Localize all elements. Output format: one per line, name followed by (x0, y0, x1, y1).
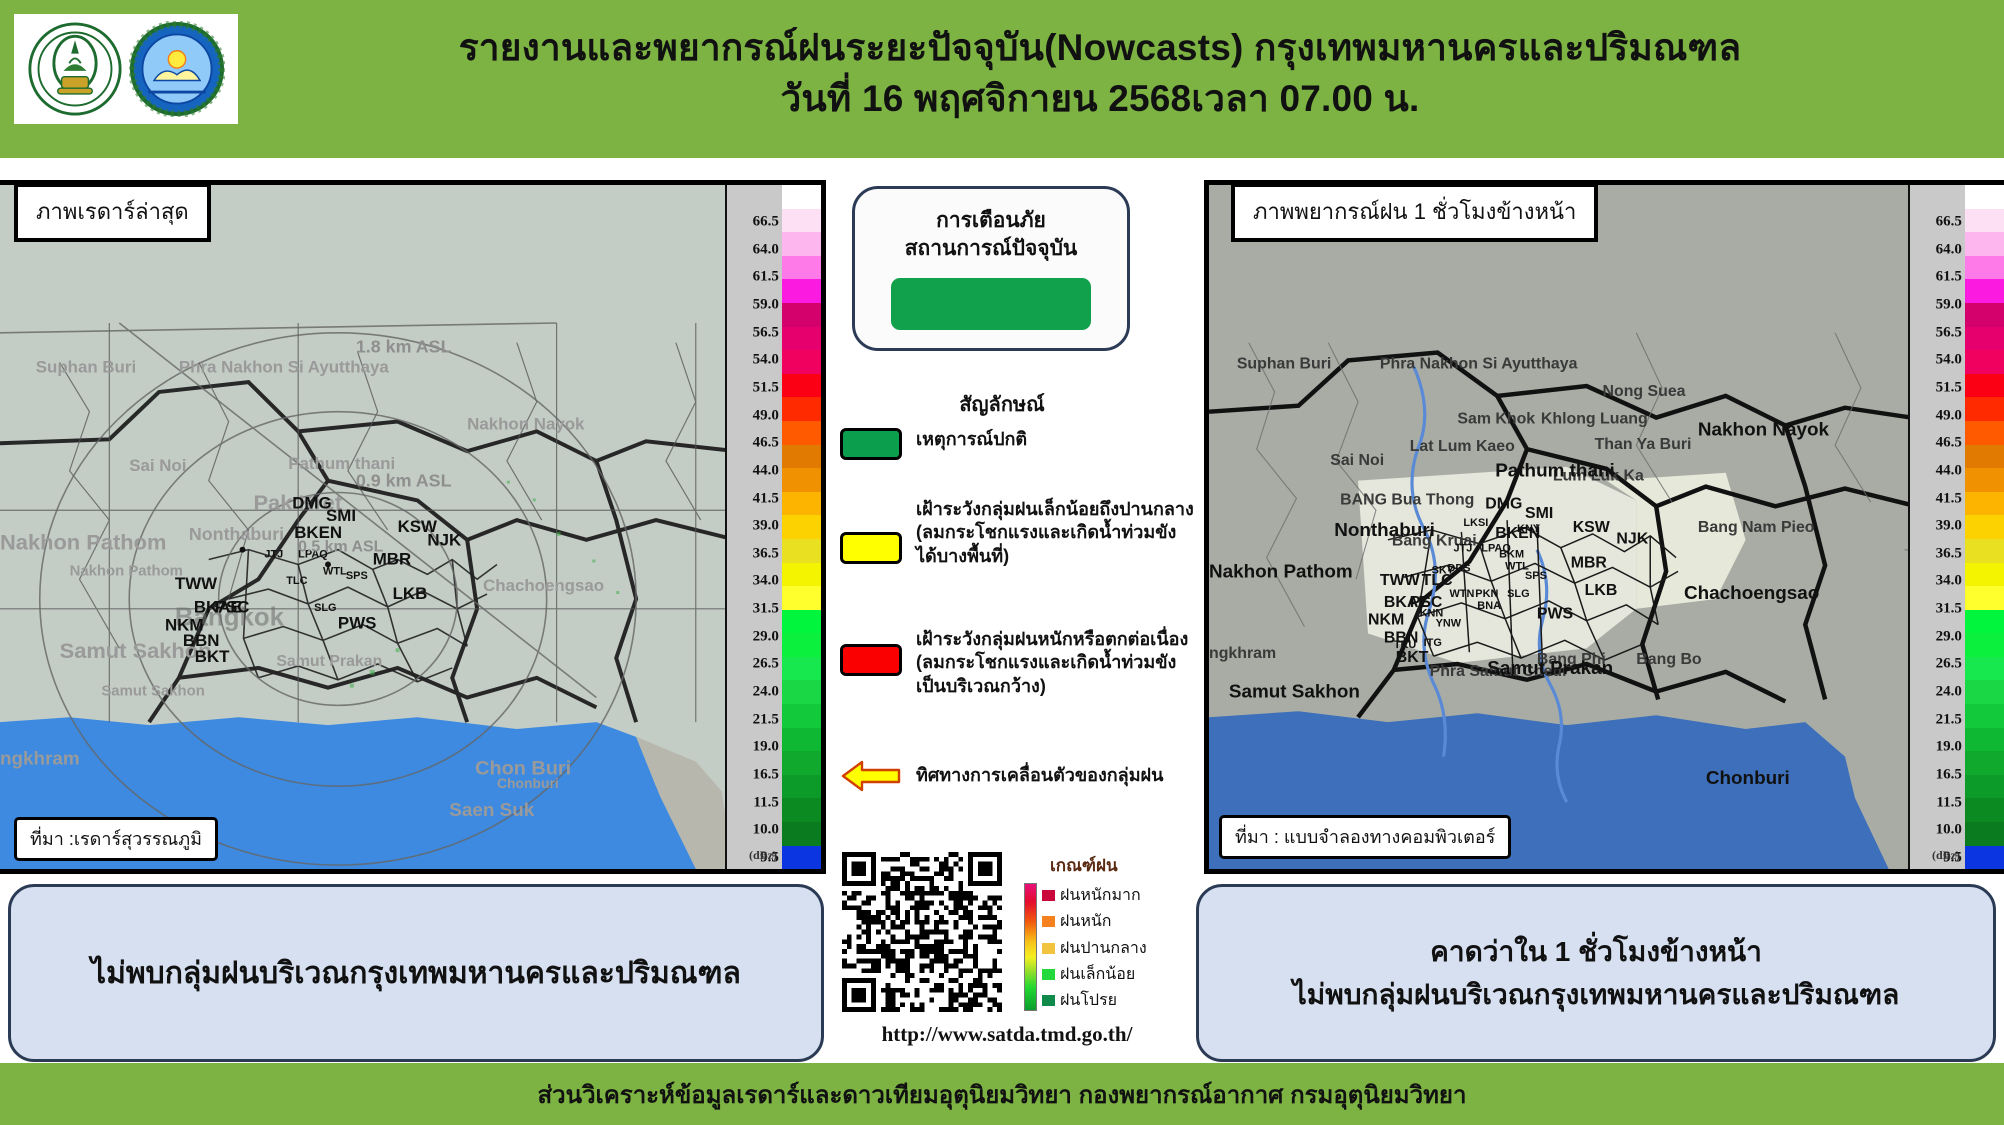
colorbar-band (782, 798, 821, 822)
colorbar-band (1965, 563, 2004, 587)
svg-text:0.5 km ASL: 0.5 km ASL (298, 539, 383, 556)
svg-text:PSC: PSC (215, 598, 250, 617)
svg-text:Saen Suk: Saen Suk (449, 799, 535, 820)
colorbar-tick-label: 21.5 (753, 711, 779, 728)
colorbar-tick-label: 34.0 (1936, 573, 1962, 590)
colorbar-band (782, 539, 821, 563)
symbol-swatch-watch-light (840, 532, 902, 564)
colorbar-band (1965, 680, 2004, 704)
svg-text:BANG Bua Thong: BANG Bua Thong (1340, 491, 1474, 508)
colorbar-band (1965, 515, 2004, 539)
colorbar-band (1965, 303, 2004, 327)
symbol-row-watch-light: เฝ้าระวังกลุ่มฝนเล็กน้อยถึงปานกลาง (ลมกร… (840, 498, 1194, 568)
radar-map-image: Suphan Buri Phra Nakhon Si Ayutthaya Nak… (0, 185, 821, 869)
forecast-map-panel[interactable]: Suphan Buri Phra Nakhon Si Ayutthaya Non… (1204, 180, 2004, 874)
colorbar-band (782, 397, 821, 421)
svg-text:Samut Sakhon: Samut Sakhon (1229, 681, 1360, 702)
colorbar-tick-label: 51.5 (753, 379, 779, 396)
colorbar-tick-label: 44.0 (753, 462, 779, 479)
colorbar-band (782, 728, 821, 752)
alert-status-card: การเตือนภัย สถานการณ์ปัจจุบัน (852, 186, 1130, 351)
colorbar-band (1965, 728, 2004, 752)
colorbar-tick-label: 56.5 (753, 324, 779, 341)
colorbar-tick-label: 49.0 (753, 407, 779, 424)
colorbar-band (782, 751, 821, 775)
rain-item-label: ฝนโปรย (1060, 988, 1117, 1013)
svg-text:Chachoengsao: Chachoengsao (483, 576, 604, 595)
colorbar-tick-label: 59.0 (753, 297, 779, 314)
rain-legend-title: เกณฑ์ฝน (1050, 852, 1189, 879)
colorbar-band (782, 704, 821, 728)
svg-text:Lat Lum Kaeo: Lat Lum Kaeo (1410, 438, 1515, 455)
colorbar-tick-label: 39.0 (753, 518, 779, 535)
svg-text:SPS: SPS (346, 570, 368, 582)
svg-text:Sai Noi: Sai Noi (129, 456, 186, 475)
colorbar-tick-label: 19.0 (753, 739, 779, 756)
page-footer: ส่วนวิเคราะห์ข้อมูลเรดาร์และดาวเทียมอุตุ… (0, 1063, 2004, 1125)
svg-text:MBR: MBR (1571, 554, 1608, 571)
royal-seal-logo (27, 21, 123, 117)
forecast-panel-tab-label: ภาพพยากรณ์ฝน 1 ชั่วโมงข้างหน้า (1231, 183, 1598, 242)
svg-text:Suphan Buri: Suphan Buri (36, 357, 136, 376)
symbol-label-normal: เหตุการณ์ปกติ (916, 428, 1027, 451)
colorbar-band (1965, 279, 2004, 303)
colorbar-band (1965, 633, 2004, 657)
rain-legend-item: ฝนเล็กน้อย (1042, 962, 1147, 987)
colorbar-tick-label: 61.5 (1936, 269, 1962, 286)
rain-legend-item: ฝนปานกลาง (1042, 936, 1147, 961)
svg-text:Nakhon Nayok: Nakhon Nayok (1698, 418, 1830, 439)
alert-status-indicator (891, 278, 1091, 330)
colorbar-band (782, 586, 821, 610)
radar-panel-tab-label: ภาพเรดาร์ล่าสุด (14, 183, 211, 242)
forecast-colorbar-labels: 66.564.061.559.056.554.051.549.046.544.0… (1910, 185, 1965, 869)
symbols-title: สัญลักษณ์ (832, 388, 1172, 420)
svg-text:KSW: KSW (1573, 519, 1610, 536)
svg-text:LKB: LKB (393, 584, 428, 603)
colorbar-tick-label: 10.0 (1936, 822, 1962, 839)
svg-text:Samut Prakan: Samut Prakan (1487, 657, 1613, 678)
svg-text:Sai Noi: Sai Noi (1330, 452, 1384, 469)
svg-text:Nong Suea: Nong Suea (1603, 383, 1686, 400)
colorbar-tick-label: 11.5 (1936, 794, 1961, 811)
colorbar-tick-label: 26.5 (1936, 656, 1962, 673)
colorbar-tick-label: 26.5 (753, 656, 779, 673)
colorbar-band (782, 563, 821, 587)
colorbar-band (1965, 657, 2004, 681)
colorbar-tick-label: 31.5 (753, 601, 779, 618)
colorbar-tick-label: 54.0 (1936, 352, 1962, 369)
forecast-map-image: Suphan Buri Phra Nakhon Si Ayutthaya Non… (1209, 185, 2004, 869)
left-arrow-icon (840, 758, 902, 794)
svg-text:SKY: SKY (1432, 564, 1455, 576)
radar-colorbar: 66.564.061.559.056.554.051.549.046.544.0… (725, 185, 821, 869)
rain-chip (1042, 890, 1055, 901)
svg-text:NJK: NJK (427, 531, 461, 550)
forecast-colorbar-unit: (dBz) (1932, 848, 1960, 863)
rain-chip (1042, 943, 1055, 954)
colorbar-tick-label: 46.5 (1936, 435, 1962, 452)
svg-text:Chonburi: Chonburi (1706, 767, 1790, 788)
colorbar-band (782, 846, 821, 870)
svg-text:Sam Khok: Sam Khok (1457, 411, 1535, 428)
center-legend-column: การเตือนภัย สถานการณ์ปัจจุบัน สัญลักษณ์ … (832, 180, 1202, 1040)
svg-text:Chachoengsao: Chachoengsao (1684, 582, 1819, 603)
svg-text:SMI: SMI (1525, 505, 1553, 522)
colorbar-band (782, 185, 821, 209)
colorbar-tick-label: 59.0 (1936, 297, 1962, 314)
colorbar-band (1965, 704, 2004, 728)
page-title: รายงานและพยากรณ์ฝนระยะปัจจุบัน(Nowcasts)… (250, 22, 1950, 124)
left-caption-line1: ไม่พบกลุ่มฝนบริเวณกรุงเทพมหานครและปริมณฑ… (91, 951, 741, 996)
colorbar-band (782, 279, 821, 303)
rain-legend-item: ฝนหนัก (1042, 909, 1147, 934)
svg-text:Phra Nakhon Si Ayutthaya: Phra Nakhon Si Ayutthaya (179, 357, 389, 376)
svg-text:Nakhon Pathom: Nakhon Pathom (0, 530, 166, 555)
symbol-label-watch-heavy: เฝ้าระวังกลุ่มฝนหนักหรือตกต่อเนื่อง (ลมก… (916, 628, 1188, 698)
colorbar-band (1965, 350, 2004, 374)
radar-panel-source-label: ที่มา :เรดาร์สุวรรณภูมิ (14, 817, 218, 861)
symbol-swatch-watch-heavy (840, 644, 902, 676)
svg-text:YNW: YNW (1436, 618, 1462, 630)
svg-text:Phra Nakhon Si Ayutthaya: Phra Nakhon Si Ayutthaya (1380, 355, 1578, 372)
svg-text:PWS: PWS (1537, 606, 1573, 623)
svg-text:ngkhram: ngkhram (0, 748, 80, 769)
colorbar-band (782, 209, 821, 233)
svg-text:0.9 km ASL: 0.9 km ASL (356, 471, 452, 491)
svg-text:TWW: TWW (175, 574, 217, 593)
colorbar-tick-label: 54.0 (753, 352, 779, 369)
colorbar-band (1965, 445, 2004, 469)
colorbar-band (1965, 751, 2004, 775)
svg-text:LKSI: LKSI (1463, 517, 1488, 529)
colorbar-band (1965, 327, 2004, 351)
symbol-label-watch-light: เฝ้าระวังกลุ่มฝนเล็กน้อยถึงปานกลาง (ลมกร… (916, 498, 1194, 568)
colorbar-tick-label: 31.5 (1936, 601, 1962, 618)
svg-text:JTJ: JTJ (1453, 543, 1472, 555)
svg-text:TKU: TKU (1394, 639, 1417, 651)
colorbar-band (1965, 775, 2004, 799)
colorbar-band (1965, 232, 2004, 256)
colorbar-tick-label: 66.5 (753, 214, 779, 231)
colorbar-band (782, 610, 821, 634)
symbol-label-movement: ทิศทางการเคลื่อนตัวของกลุ่มฝน (916, 764, 1163, 787)
svg-text:Nakhon Pathom: Nakhon Pathom (70, 563, 183, 579)
colorbar-band (782, 256, 821, 280)
colorbar-band (1965, 610, 2004, 634)
colorbar-tick-label: 41.5 (1936, 490, 1962, 507)
colorbar-band (782, 822, 821, 846)
svg-text:Nonthaburi: Nonthaburi (1334, 519, 1435, 540)
alert-card-line2: สถานการณ์ปัจจุบัน (905, 235, 1078, 263)
colorbar-tick-label: 34.0 (753, 573, 779, 590)
svg-text:Suphan Buri: Suphan Buri (1237, 355, 1331, 372)
colorbar-tick-label: 41.5 (753, 490, 779, 507)
right-caption-line2: ไม่พบกลุ่มฝนบริเวณกรุงเทพมหานครและปริมณฑ… (1293, 973, 1900, 1016)
svg-text:ITG: ITG (1424, 637, 1442, 649)
page-title-line2: วันที่ 16 พฤศจิกายน 2568เวลา 07.00 น. (250, 73, 1950, 124)
svg-text:SPS: SPS (1525, 570, 1547, 582)
svg-text:Than Ya Buri: Than Ya Buri (1595, 436, 1692, 453)
footer-text: ส่วนวิเคราะห์ข้อมูลเรดาร์และดาวเทียมอุตุ… (538, 1075, 1467, 1114)
rain-legend-gradient (1024, 883, 1037, 1011)
website-url[interactable]: http://www.satda.tmd.go.th/ (832, 1022, 1182, 1047)
rain-item-label: ฝนหนัก (1060, 909, 1111, 934)
svg-text:DMG: DMG (1485, 495, 1522, 512)
rain-item-label: ฝนปานกลาง (1060, 936, 1147, 961)
svg-text:PKN: PKN (1475, 588, 1498, 600)
rain-legend-items: ฝนหนักมาก ฝนหนัก ฝนปานกลาง ฝนเล็กน้อย (1042, 883, 1147, 1013)
svg-text:BKM: BKM (1499, 549, 1524, 561)
svg-text:SLG: SLG (1507, 588, 1529, 600)
colorbar-tick-label: 39.0 (1936, 518, 1962, 535)
colorbar-band (1965, 539, 2004, 563)
colorbar-band (782, 633, 821, 657)
colorbar-tick-label: 29.0 (753, 628, 779, 645)
logo-box (14, 14, 238, 124)
svg-text:WTN: WTN (1449, 588, 1474, 600)
colorbar-tick-label: 44.0 (1936, 462, 1962, 479)
colorbar-tick-label: 16.5 (1936, 767, 1962, 784)
svg-text:1.8 km ASL: 1.8 km ASL (356, 337, 452, 357)
svg-text:NKM: NKM (1368, 612, 1404, 629)
radar-colorbar-unit: (dBz) (749, 848, 777, 863)
svg-text:Nakhon Nayok: Nakhon Nayok (467, 414, 585, 433)
colorbar-tick-label: 24.0 (753, 684, 779, 701)
svg-text:Nonthaburi: Nonthaburi (189, 524, 284, 544)
colorbar-tick-label: 64.0 (753, 241, 779, 258)
colorbar-band (782, 303, 821, 327)
qr-code[interactable] (842, 852, 1002, 1012)
svg-text:SLG: SLG (314, 602, 336, 614)
rain-intensity-legend: เกณฑ์ฝน ฝนหนักมาก ฝนหนัก ฝนปานกลาง (1024, 852, 1189, 1013)
radar-colorbar-strip (782, 185, 821, 869)
symbol-row-watch-heavy: เฝ้าระวังกลุ่มฝนหนักหรือตกต่อเนื่อง (ลมก… (840, 628, 1188, 698)
colorbar-band (1965, 209, 2004, 233)
nowcast-report-page: รายงานและพยากรณ์ฝนระยะปัจจุบัน(Nowcasts)… (0, 0, 2004, 1125)
colorbar-band (782, 232, 821, 256)
colorbar-band (782, 350, 821, 374)
svg-text:Samut Prakan: Samut Prakan (276, 653, 382, 670)
svg-text:WTL: WTL (323, 565, 347, 577)
colorbar-tick-label: 46.5 (753, 435, 779, 452)
colorbar-tick-label: 24.0 (1936, 684, 1962, 701)
colorbar-tick-label: 49.0 (1936, 407, 1962, 424)
colorbar-band (1965, 586, 2004, 610)
svg-text:Bang Nam Pieo: Bang Nam Pieo (1698, 519, 1815, 536)
rain-legend-item: ฝนโปรย (1042, 988, 1147, 1013)
colorbar-tick-label: 10.0 (753, 822, 779, 839)
colorbar-tick-label: 11.5 (753, 794, 778, 811)
symbol-row-movement: ทิศทางการเคลื่อนตัวของกลุ่มฝน (840, 758, 1163, 794)
colorbar-tick-label: 29.0 (1936, 628, 1962, 645)
page-title-line1: รายงานและพยากรณ์ฝนระยะปัจจุบัน(Nowcasts)… (459, 27, 1742, 68)
rain-legend-item: ฝนหนักมาก (1042, 883, 1147, 908)
rain-chip (1042, 916, 1055, 927)
svg-text:TLC: TLC (286, 575, 307, 587)
tmd-department-logo (129, 21, 225, 117)
svg-text:Pathum thani: Pathum thani (1495, 460, 1615, 481)
svg-text:KNY: KNY (1517, 523, 1541, 535)
colorbar-band (782, 492, 821, 516)
colorbar-tick-label: 66.5 (1936, 214, 1962, 231)
right-caption-line1: คาดว่าใน 1 ชั่วโมงข้างหน้า (1430, 930, 1762, 973)
colorbar-band (782, 468, 821, 492)
colorbar-tick-label: 56.5 (1936, 324, 1962, 341)
svg-text:Chonburi: Chonburi (497, 775, 559, 791)
svg-text:ngkhram: ngkhram (1209, 645, 1276, 662)
forecast-colorbar-strip (1965, 185, 2004, 869)
colorbar-band (1965, 822, 2004, 846)
colorbar-band (1965, 846, 2004, 870)
right-caption-card: คาดว่าใน 1 ชั่วโมงข้างหน้า ไม่พบกลุ่มฝนบ… (1196, 884, 1996, 1062)
colorbar-band (1965, 492, 2004, 516)
rain-item-label: ฝนเล็กน้อย (1060, 962, 1135, 987)
page-header: รายงานและพยากรณ์ฝนระยะปัจจุบัน(Nowcasts)… (0, 0, 2004, 158)
colorbar-band (1965, 468, 2004, 492)
svg-text:BKT: BKT (195, 647, 230, 666)
colorbar-band (1965, 397, 2004, 421)
svg-text:Samut Sakhon: Samut Sakhon (101, 684, 204, 700)
rain-chip (1042, 995, 1055, 1006)
radar-colorbar-labels: 66.564.061.559.056.554.051.549.046.544.0… (727, 185, 782, 869)
colorbar-band (782, 445, 821, 469)
svg-text:BKT: BKT (1396, 649, 1429, 666)
colorbar-band (1965, 374, 2004, 398)
svg-text:BNA: BNA (1477, 600, 1501, 612)
colorbar-band (782, 515, 821, 539)
colorbar-tick-label: 61.5 (753, 269, 779, 286)
svg-text:Bang Bo: Bang Bo (1636, 651, 1702, 668)
svg-text:PWS: PWS (338, 614, 376, 633)
rain-chip (1042, 969, 1055, 980)
left-caption-card: ไม่พบกลุ่มฝนบริเวณกรุงเทพมหานครและปริมณฑ… (8, 884, 824, 1062)
colorbar-tick-label: 36.5 (1936, 545, 1962, 562)
svg-text:JTJ: JTJ (264, 549, 283, 561)
svg-text:NJK: NJK (1616, 531, 1648, 548)
colorbar-band (782, 374, 821, 398)
svg-text:TWW: TWW (1380, 572, 1420, 589)
colorbar-tick-label: 36.5 (753, 545, 779, 562)
colorbar-band (782, 421, 821, 445)
colorbar-band (1965, 798, 2004, 822)
svg-text:Nakhon Pathom: Nakhon Pathom (1209, 560, 1353, 581)
colorbar-tick-label: 64.0 (1936, 241, 1962, 258)
colorbar-band (782, 680, 821, 704)
colorbar-band (782, 775, 821, 799)
svg-text:Khlong Luang: Khlong Luang (1541, 411, 1648, 428)
symbol-swatch-normal (840, 428, 902, 460)
rain-item-label: ฝนหนักมาก (1060, 883, 1141, 908)
forecast-panel-source-label: ที่มา : แบบจำลองทางคอมพิวเตอร์ (1219, 815, 1511, 859)
svg-text:LKB: LKB (1585, 582, 1618, 599)
colorbar-band (782, 657, 821, 681)
forecast-colorbar: 66.564.061.559.056.554.051.549.046.544.0… (1908, 185, 2004, 869)
symbol-row-normal: เหตุการณ์ปกติ (840, 428, 1027, 460)
colorbar-tick-label: 19.0 (1936, 739, 1962, 756)
qr-code-wrap[interactable] (842, 852, 1002, 1012)
colorbar-tick-label: 21.5 (1936, 711, 1962, 728)
colorbar-band (782, 327, 821, 351)
colorbar-tick-label: 51.5 (1936, 379, 1962, 396)
alert-card-line1: การเตือนภัย (936, 207, 1046, 235)
colorbar-band (1965, 185, 2004, 209)
radar-map-panel[interactable]: Suphan Buri Phra Nakhon Si Ayutthaya Nak… (0, 180, 826, 874)
colorbar-band (1965, 421, 2004, 445)
colorbar-band (1965, 256, 2004, 280)
colorbar-tick-label: 16.5 (753, 767, 779, 784)
